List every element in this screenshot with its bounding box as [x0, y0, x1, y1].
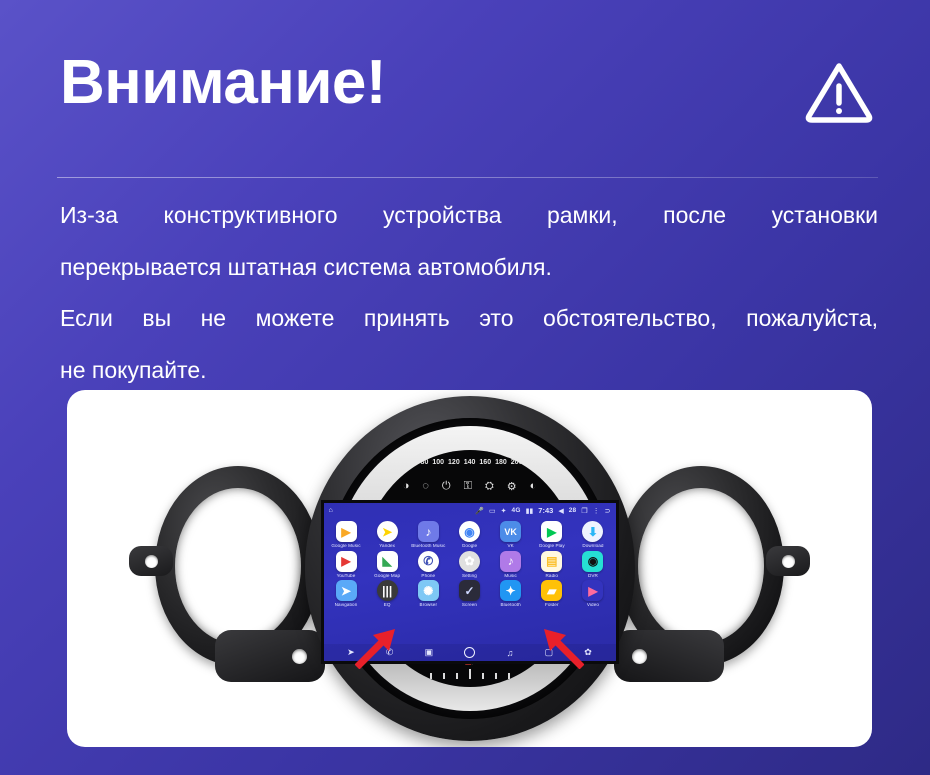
volume-icon[interactable]: ◀ — [558, 507, 563, 515]
app-tile[interactable]: ◣Google Map — [369, 551, 406, 579]
google-maps-icon[interactable]: ◣ — [377, 551, 398, 572]
warning-triangle-icon — [803, 58, 875, 126]
tick-mark — [404, 669, 406, 679]
signal-bars-icon: ▮▮ — [526, 507, 534, 515]
app-label: Radio — [533, 574, 570, 579]
app-label: Google Music — [328, 544, 365, 549]
volume-level: 28 — [569, 507, 577, 514]
app-label: Screen — [451, 603, 488, 608]
speed-mark: 60 — [409, 459, 417, 466]
header-divider — [57, 177, 878, 178]
app-label: Download — [574, 544, 611, 549]
tick-mark — [443, 673, 445, 679]
tick-mark — [482, 673, 484, 679]
app-label: YouTube — [328, 574, 365, 579]
home-circle-icon[interactable] — [464, 647, 475, 658]
app-tile[interactable]: ▰Folder — [533, 580, 570, 608]
app-label: Yandex — [369, 544, 406, 549]
speed-mark: 160 — [479, 459, 491, 466]
radio-icon[interactable]: ▤ — [541, 551, 562, 572]
app-tile[interactable]: ♪Music — [492, 551, 529, 579]
app-row: ▶Google Music➤Yandex♪Bluetooth Music◉Goo… — [328, 521, 612, 549]
radio-icon[interactable]: ▣ — [425, 647, 434, 658]
app-tile[interactable]: ◉DVR — [574, 551, 611, 579]
app-tile[interactable]: ➤Navigation — [328, 580, 365, 608]
tick-mark — [456, 673, 458, 679]
overflow-menu-icon[interactable]: ⋮ — [593, 507, 600, 515]
download-icon[interactable]: ⬇ — [582, 521, 603, 542]
app-label: Google — [451, 544, 488, 549]
tick-mark — [417, 673, 419, 679]
app-label: VK — [492, 544, 529, 549]
google-music-icon[interactable]: ▶ — [336, 521, 357, 542]
app-label: Phone — [410, 574, 447, 579]
app-label: DVR — [574, 574, 611, 579]
speed-mark: 240 — [542, 459, 554, 466]
bluetooth-music-icon[interactable]: ♪ — [418, 521, 439, 542]
app-tile[interactable]: ▤Radio — [533, 551, 570, 579]
app-label: Bluetooth Music — [410, 544, 447, 549]
speed-scale: 20406080100120140160180200220240 — [385, 459, 554, 466]
app-label: Music — [492, 574, 529, 579]
fog-lamp-icon: ◌ — [422, 480, 429, 493]
app-label: Bluetooth — [492, 603, 529, 608]
navigation-arrow-icon[interactable]: ➤ — [347, 647, 355, 658]
app-tile[interactable]: ⬇Download — [574, 521, 611, 549]
music-note-icon[interactable]: ♫ — [507, 648, 514, 658]
app-label: Video — [574, 603, 611, 608]
tick-mark — [534, 669, 536, 679]
music-icon[interactable]: ♪ — [500, 551, 521, 572]
video-icon[interactable]: ▢ — [545, 647, 554, 658]
speed-mark: 200 — [511, 459, 523, 466]
microphone-icon[interactable]: 🎤 — [475, 507, 484, 515]
speed-mark: 220 — [526, 459, 538, 466]
speed-mark: 140 — [464, 459, 476, 466]
app-row: ▶YouTube◣Google Map✆Phone✿Setting♪Music▤… — [328, 551, 612, 579]
tick-mark — [521, 673, 523, 679]
clock: 7:43 — [538, 506, 553, 515]
navigation-icon[interactable]: ➤ — [336, 580, 357, 601]
fuel-tick-marks — [404, 669, 536, 679]
app-tile[interactable]: ♪Bluetooth Music — [410, 521, 447, 549]
page-header: Внимание! — [60, 52, 875, 148]
right-ring-inner — [638, 488, 764, 644]
speed-mark: 80 — [421, 459, 429, 466]
app-label: Navigation — [328, 603, 365, 608]
app-tile[interactable]: VKVK — [492, 521, 529, 549]
bottom-nav-bar: ➤ ✆ ▣ ♫ ▢ ✿ — [324, 644, 616, 661]
tick-mark — [495, 673, 497, 679]
vk-icon[interactable]: VK — [500, 521, 521, 542]
headlight-icon: ◑ — [403, 480, 410, 493]
left-ring-mount-tab — [129, 546, 173, 576]
bluetooth-icon[interactable]: ✦ — [501, 507, 507, 515]
speed-mark: 40 — [397, 459, 405, 466]
status-bar: ⌂ 🎤 ▭ ✦ 4G ▮▮ 7:43 ◀ 28 ❐ ⋮ ⊃ — [324, 503, 616, 518]
telltale-row: ◑ ◌ ⏻ ⚿ ⛭ ⚙ ◐ — [403, 480, 537, 493]
bluetooth-icon[interactable]: ✦ — [500, 580, 521, 601]
speed-mark: 100 — [432, 459, 444, 466]
app-tile[interactable]: ➤Yandex — [369, 521, 406, 549]
airbag-icon: ⛭ — [485, 480, 494, 493]
power-icon: ⏻ — [442, 480, 451, 493]
sd-card-icon: ▭ — [489, 507, 496, 515]
network-label: 4G — [512, 507, 521, 514]
seatbelt-icon: ⚿ — [464, 480, 472, 493]
app-tile[interactable]: ▶YouTube — [328, 551, 365, 579]
tick-mark — [430, 673, 432, 679]
app-row: ➤Navigation|||EQ✺Browser✓Screen✦Bluetoot… — [328, 580, 612, 608]
app-label: Browser — [410, 603, 447, 608]
tick-mark — [469, 669, 471, 679]
app-tile[interactable]: ✿Setting — [451, 551, 488, 579]
back-icon[interactable]: ⊃ — [605, 507, 611, 515]
app-tile[interactable]: ✦Bluetooth — [492, 580, 529, 608]
folder-icon[interactable]: ▰ — [541, 580, 562, 601]
home-icon[interactable]: ⌂ — [329, 507, 333, 514]
recent-apps-icon[interactable]: ❐ — [581, 507, 587, 515]
app-label: Google Map — [369, 574, 406, 579]
app-label: EQ — [369, 603, 406, 608]
app-tile[interactable]: ✺Browser — [410, 580, 447, 608]
warning-line-4: не покупайте. — [60, 351, 878, 391]
warning-line-2: перекрывается штатная система автомобиля… — [60, 248, 878, 288]
settings-gear-icon[interactable]: ✿ — [459, 551, 480, 572]
app-tile[interactable]: ✓Screen — [451, 580, 488, 608]
app-tile[interactable]: ✆Phone — [410, 551, 447, 579]
app-tile[interactable]: |||EQ — [369, 580, 406, 608]
video-player-icon[interactable]: ▶ — [582, 580, 603, 601]
warning-line-3: Если вы не можете принять это обстоятель… — [60, 299, 878, 339]
horn-icon: ◐ — [530, 480, 537, 493]
app-label: Google Play — [533, 544, 570, 549]
warning-text-block: Из-за конструктивного устройства рамки, … — [60, 196, 878, 402]
google-play-icon[interactable]: ▶ — [541, 521, 562, 542]
left-mount-foot — [215, 630, 325, 682]
warning-line-1: Из-за конструктивного устройства рамки, … — [60, 196, 878, 236]
youtube-icon[interactable]: ▶ — [336, 551, 357, 572]
warning-page: Внимание! Из-за конструктивного устройст… — [0, 0, 930, 775]
page-title: Внимание! — [60, 52, 386, 114]
speed-mark: 180 — [495, 459, 507, 466]
phone-handset-icon[interactable]: ✆ — [386, 647, 394, 658]
browser-globe-icon[interactable]: ✺ — [418, 580, 439, 601]
speed-mark: 120 — [448, 459, 460, 466]
product-photo: 20406080100120140160180200220240 ◑ ◌ ⏻ ⚿… — [67, 390, 872, 747]
app-grid: ▶Google Music➤Yandex♪Bluetooth Music◉Goo… — [324, 518, 616, 608]
yandex-navigator-icon[interactable]: ➤ — [377, 521, 398, 542]
phone-icon[interactable]: ✆ — [418, 551, 439, 572]
product-photo-card: 20406080100120140160180200220240 ◑ ◌ ⏻ ⚿… — [67, 390, 872, 747]
app-tile[interactable]: ◉Google — [451, 521, 488, 549]
engine-check-icon: ⚙ — [507, 480, 517, 493]
right-ring-mount-tab — [766, 546, 810, 576]
app-tile[interactable]: ▶Video — [574, 580, 611, 608]
speed-mark: 20 — [385, 459, 393, 466]
app-tile[interactable]: ▶Google Music — [328, 521, 365, 549]
app-label: Setting — [451, 574, 488, 579]
equalizer-icon[interactable]: ||| — [377, 580, 398, 601]
app-label: Folder — [533, 603, 570, 608]
screen-mirror-icon[interactable]: ✓ — [459, 580, 480, 601]
chrome-icon[interactable]: ◉ — [459, 521, 480, 542]
right-mount-foot — [614, 630, 724, 682]
tick-mark — [508, 673, 510, 679]
android-head-unit-screen[interactable]: ⌂ 🎤 ▭ ✦ 4G ▮▮ 7:43 ◀ 28 ❐ ⋮ ⊃ — [324, 503, 616, 661]
dvr-camera-icon[interactable]: ◉ — [582, 551, 603, 572]
left-ring-inner — [175, 488, 301, 644]
app-tile[interactable]: ▶Google Play — [533, 521, 570, 549]
settings-gear-icon[interactable]: ✿ — [584, 647, 592, 658]
